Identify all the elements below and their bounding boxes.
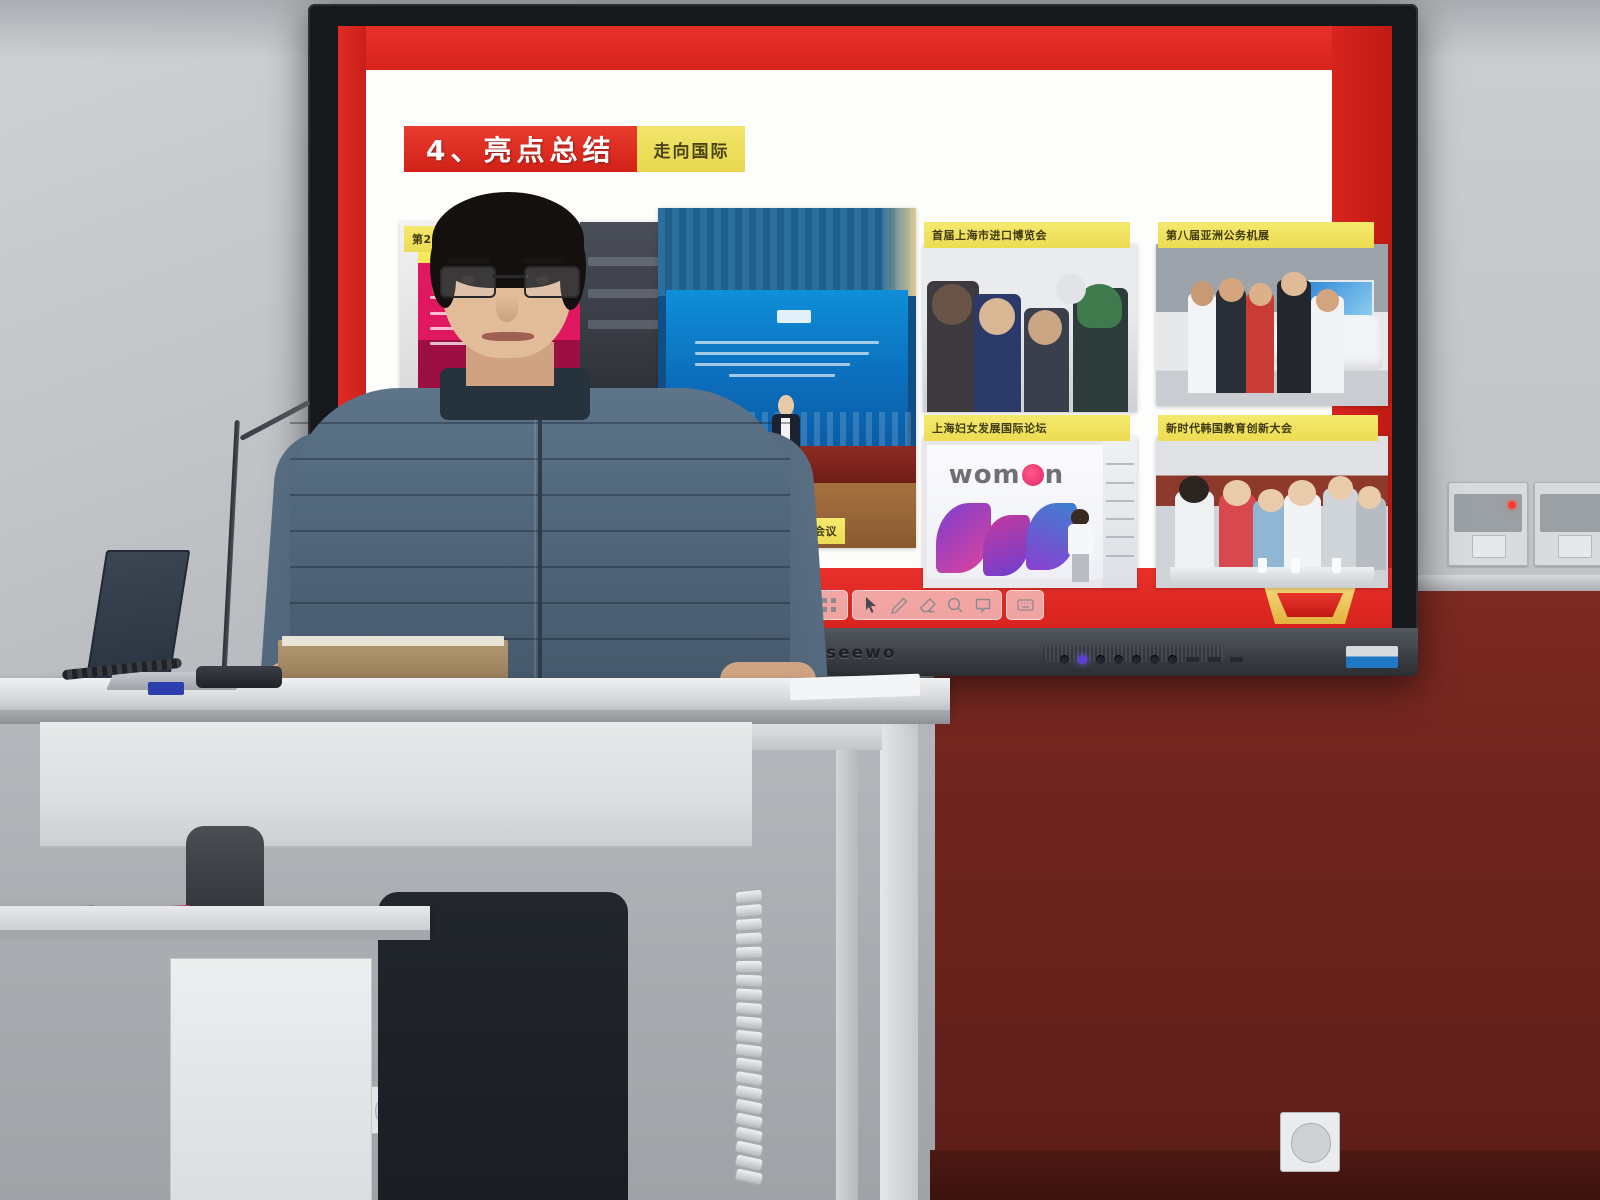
eraser-icon[interactable]	[914, 594, 940, 616]
panel-socket	[1472, 535, 1505, 558]
photo-import-expo	[923, 244, 1137, 412]
bezel-button[interactable]	[1150, 655, 1159, 664]
side-table-front	[170, 958, 372, 1200]
caption-korea-education: 新时代韩国教育创新大会	[1158, 415, 1378, 441]
lectern-leg-inner	[836, 724, 858, 1200]
slide-title-group: 4、亮点总结 走向国际	[404, 126, 745, 172]
slide-title: 4、亮点总结	[404, 126, 637, 172]
screenshot-icon[interactable]	[970, 594, 996, 616]
forum-side-panel	[1103, 436, 1137, 588]
pen-icon[interactable]	[886, 594, 912, 616]
side-table-edge	[0, 930, 430, 940]
women-wordmark: womn	[949, 460, 1065, 490]
glasses-icon	[440, 266, 580, 294]
caption-import-expo: 首届上海市进口博览会	[924, 222, 1130, 248]
cursor-icon[interactable]	[858, 594, 884, 616]
lectern-front-panel	[40, 722, 752, 848]
toolbar-group-tools	[852, 590, 1002, 620]
screenshot-root: 4、亮点总结 走向国际	[0, 0, 1600, 1200]
microphone-base	[196, 666, 282, 688]
baseboard	[930, 1150, 1600, 1200]
magnifier-icon[interactable]	[942, 594, 968, 616]
bezel-port[interactable]	[1208, 657, 1221, 662]
forum-attendee-figure	[1066, 509, 1094, 582]
bezel-button[interactable]	[1114, 655, 1123, 664]
notebook-pages	[282, 636, 504, 646]
power-led[interactable]	[1078, 655, 1087, 664]
slide-top-band	[338, 26, 1392, 70]
blue-desk-item	[148, 682, 184, 695]
bezel-controls[interactable]	[1060, 655, 1243, 664]
keyboard-icon[interactable]	[1012, 594, 1038, 616]
bezel-port[interactable]	[1230, 657, 1243, 662]
decorative-ribbon	[1264, 586, 1356, 624]
caption-women-forum: 上海妇女发展国际论坛	[924, 415, 1130, 441]
photo-women-forum: womn	[923, 436, 1137, 588]
lectern-paper	[790, 674, 921, 701]
photo-korea-education	[1156, 436, 1388, 588]
bezel-sticker	[1346, 646, 1398, 668]
cable-conduit	[735, 890, 761, 1190]
presenter-nose	[496, 296, 518, 322]
bezel-button[interactable]	[1132, 655, 1141, 664]
toolbar-group-keyboard	[1006, 590, 1044, 620]
floor-outlet-right[interactable]	[1280, 1112, 1340, 1172]
bezel-port[interactable]	[1186, 657, 1199, 662]
floor-outlet-socket	[1291, 1123, 1330, 1162]
presenter-brow-right	[522, 258, 564, 264]
slide-subtitle-tag: 走向国际	[637, 126, 745, 172]
panel-window	[1540, 494, 1600, 532]
control-panel-left[interactable]	[1448, 482, 1528, 566]
conference-table	[1170, 567, 1374, 588]
presenter-brow-left	[448, 258, 490, 264]
caption-aviation-expo: 第八届亚洲公务机展	[1158, 222, 1374, 248]
bezel-button[interactable]	[1060, 655, 1069, 664]
display-brand-logo: seewo	[826, 643, 897, 663]
bezel-button[interactable]	[1168, 655, 1177, 664]
control-panel-right[interactable]	[1534, 482, 1600, 566]
side-table-top	[0, 906, 430, 932]
bezel-button[interactable]	[1096, 655, 1105, 664]
lectern-leg	[880, 712, 918, 1200]
panel-socket	[1558, 535, 1591, 558]
presenter-mouth	[482, 332, 534, 341]
wainscot-panel	[930, 585, 1600, 1200]
photo-aviation-expo	[1156, 244, 1388, 406]
